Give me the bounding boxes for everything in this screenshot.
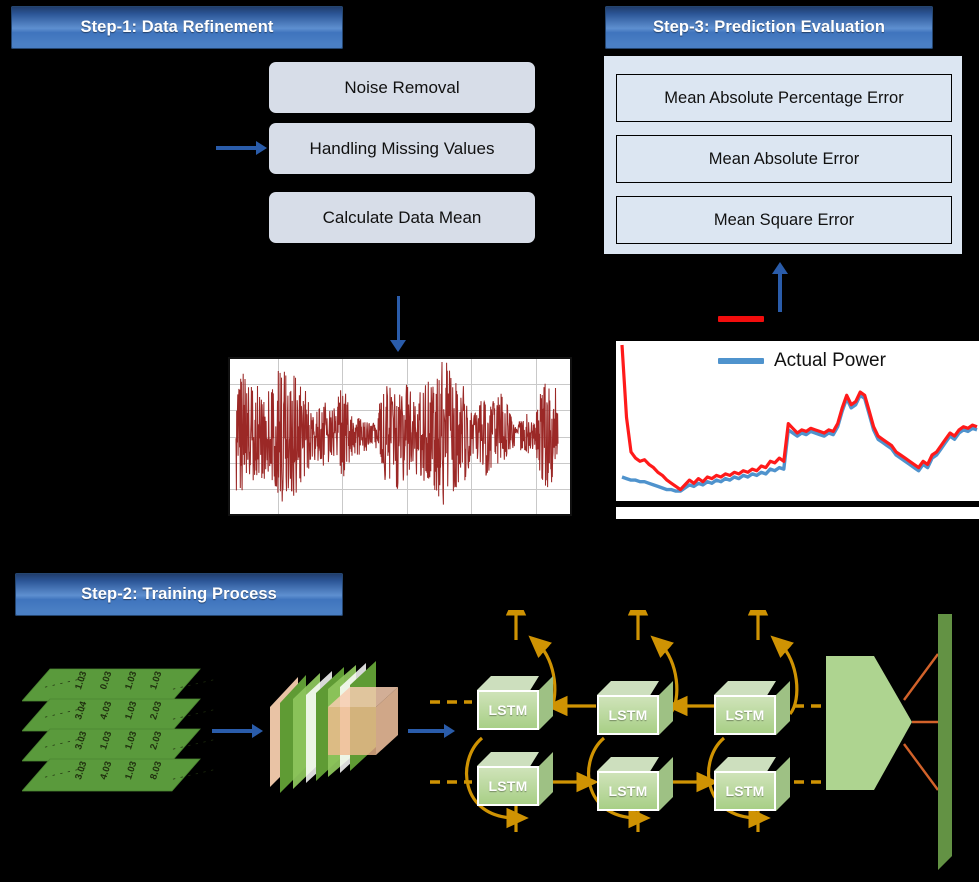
lstm-cell-front-face: LSTM (477, 766, 539, 806)
step1-box-handling-missing-values[interactable]: Handling Missing Values (269, 123, 535, 174)
legend-swatch-predicted-power (718, 316, 764, 322)
sheet-dash: - - - - - - (171, 764, 216, 784)
sheet-value: 1.03 (123, 700, 139, 721)
cnn-block-svg (258, 655, 408, 805)
cnn-block (258, 655, 408, 805)
sheet-value: 3.03 (73, 730, 89, 751)
step2-title: Step-2: Training Process (81, 585, 277, 604)
sheet-value: 0.03 (98, 670, 114, 691)
lstm-cell-label: LSTM (609, 707, 648, 723)
diagram-canvas: Step-1: Data Refinement Noise Removal Ha… (0, 0, 979, 881)
step1-box-calculate-data-mean[interactable]: Calculate Data Mean (269, 192, 535, 243)
sheet-value: 2.03 (148, 730, 164, 751)
sheet-value: 3.04 (73, 700, 89, 721)
sheet-value: 1.03 (148, 670, 164, 691)
lstm-cell-front-face: LSTM (597, 771, 659, 811)
sheet-value: 1.03 (98, 730, 114, 751)
step2-banner: Step-2: Training Process (15, 573, 343, 616)
legend-label-actual-power: Actual Power (774, 350, 886, 372)
sheet-value: 2.03 (148, 700, 164, 721)
step3-metric-mae[interactable]: Mean Absolute Error (616, 135, 952, 183)
prediction-legend-predicted (718, 316, 774, 322)
sheet-value: 3.03 (73, 760, 89, 781)
refine-to-noise-arrow-shaft (397, 296, 400, 344)
lstm-cell-label: LSTM (726, 707, 765, 723)
step3-metric-label: Mean Absolute Error (709, 150, 859, 169)
sheet-value: 1.03 (123, 760, 139, 781)
step1-box-label: Handling Missing Values (310, 139, 495, 159)
step1-box-noise-removal[interactable]: Noise Removal (269, 62, 535, 113)
refine-to-noise-arrow-head (390, 340, 406, 352)
sheet-dash: - - - - - - (171, 704, 216, 724)
dense-block-shape (826, 656, 912, 790)
sheet-value: 8.03 (148, 760, 164, 781)
step3-metric-label: Mean Square Error (714, 211, 854, 230)
step3-banner: Step-3: Prediction Evaluation (605, 6, 933, 49)
lstm-cell-front-face: LSTM (597, 695, 659, 735)
lstm-cell-front-face: LSTM (714, 695, 776, 735)
lstm-cell-label: LSTM (726, 783, 765, 799)
step3-metric-mape[interactable]: Mean Absolute Percentage Error (616, 74, 952, 122)
output-bar-highlight (938, 614, 952, 870)
noise-signal-chart (228, 357, 572, 516)
prediction-chart-axis-strip (616, 507, 979, 519)
step1-input-arrow-head (256, 141, 267, 155)
prediction-legend-actual: Actual Power (718, 350, 886, 372)
step1-box-label: Calculate Data Mean (323, 208, 482, 228)
step1-title: Step-1: Data Refinement (80, 18, 273, 37)
legend-swatch-actual-power (718, 358, 764, 364)
step3-metric-mse[interactable]: Mean Square Error (616, 196, 952, 244)
step1-input-arrow-shaft (216, 146, 258, 150)
sheets-to-cnn-arrow-shaft (212, 729, 254, 733)
prediction-to-step3-arrow-shaft (778, 272, 782, 312)
sheet-value: 1.03 (123, 670, 139, 691)
step3-metric-label: Mean Absolute Percentage Error (664, 89, 903, 108)
training-data-sheets: - - - - - -1.030.031.031.03- - - - - -- … (22, 655, 222, 795)
lstm-cell-label: LSTM (489, 702, 528, 718)
prediction-to-step3-arrow-head (772, 262, 788, 274)
sheet-dash: - - - - - - (171, 734, 216, 754)
sheet-value: 1.03 (73, 670, 89, 691)
sheet-value: 4.03 (98, 760, 114, 781)
lstm-cell-front-face: LSTM (477, 690, 539, 730)
sheet-value: 1.03 (123, 730, 139, 751)
lstm-cell-label: LSTM (609, 783, 648, 799)
step1-banner: Step-1: Data Refinement (11, 6, 343, 49)
step1-box-label: Noise Removal (344, 78, 459, 98)
lstm-cell-front-face: LSTM (714, 771, 776, 811)
noise-signal-trace (230, 359, 566, 510)
dense-and-output-block (812, 612, 979, 882)
sheet-dash: - - - - - - (171, 674, 216, 694)
step3-title: Step-3: Prediction Evaluation (653, 18, 885, 37)
sheet-value: 4.03 (98, 700, 114, 721)
lstm-cell-label: LSTM (489, 778, 528, 794)
